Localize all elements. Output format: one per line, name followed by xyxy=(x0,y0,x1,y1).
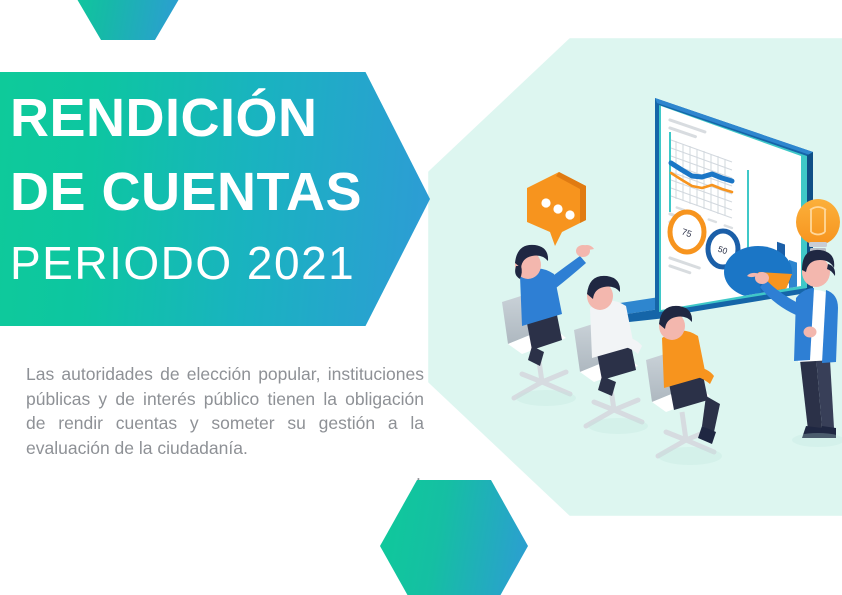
speech-bubble-icon xyxy=(527,172,586,246)
seated-person-3 xyxy=(659,306,720,444)
title-line-1: RENDICIÓN xyxy=(10,82,420,156)
screen-gauge-75: 75 xyxy=(670,212,704,252)
body-paragraph: Las autoridades de elección popular, ins… xyxy=(26,362,424,460)
title-subtitle: PERIODO 2021 xyxy=(10,230,420,297)
hexagon-top xyxy=(74,0,182,40)
headline-banner-text: RENDICIÓN DE CUENTAS PERIODO 2021 xyxy=(10,82,420,297)
title-line-2: DE CUENTAS xyxy=(10,156,420,230)
stray-period: . xyxy=(416,464,421,485)
business-presentation-illustration: 75 50 xyxy=(470,60,842,500)
poster-canvas: RENDICIÓN DE CUENTAS PERIODO 2021 Las au… xyxy=(0,0,842,595)
